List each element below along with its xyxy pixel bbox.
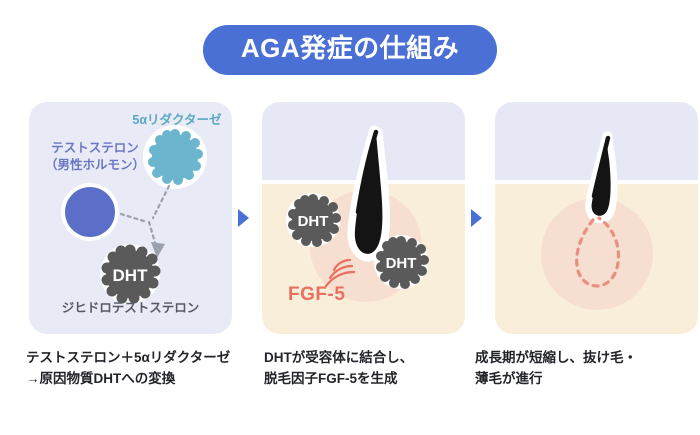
panel-binding: DHT DHT FGF-5 [262, 102, 465, 334]
caption-miniaturization: 成長期が短縮し、抜け毛・ 薄毛が進行 [475, 348, 675, 390]
captions-row: テストステロン＋5αリダクターゼ →原因物質DHTへの変換 DHTが受容体に結合… [0, 348, 700, 390]
panels-row: テストステロン （男性ホルモン） 5αリダクターゼ （酵素） [0, 102, 700, 334]
caption-conversion-line1: テストステロン＋5αリダクターゼ [26, 348, 258, 369]
title-bar: AGA発症の仕組み [0, 0, 700, 75]
arrow-2 [469, 102, 483, 334]
arrow-1 [236, 102, 250, 334]
dht-badge-left-text: DHT [298, 213, 329, 230]
panel-miniaturization-graphics [495, 102, 698, 334]
dht-molecule-left-icon: DHT [286, 193, 341, 247]
dht-full-name-label: ジヒドロテストステロン [29, 300, 232, 317]
dht-badge-right-text: DHT [386, 255, 417, 272]
page-title: AGA発症の仕組み [203, 25, 497, 75]
caption-binding-line1: DHTが受容体に結合し、 [264, 348, 459, 369]
fgf5-label: FGF-5 [288, 284, 345, 306]
dht-molecule-icon: DHT [100, 244, 161, 304]
panel-miniaturization [495, 102, 698, 334]
reductase-enzyme-icon [143, 125, 207, 189]
caption-conversion: テストステロン＋5αリダクターゼ →原因物質DHTへの変換 [26, 348, 258, 390]
caption-miniaturization-line1: 成長期が短縮し、抜け毛・ [475, 348, 675, 369]
dht-badge-text: DHT [113, 266, 149, 285]
triangle-right-icon [471, 209, 482, 227]
caption-conversion-line2: →原因物質DHTへの変換 [26, 369, 258, 390]
hair-follicle-icon [352, 130, 386, 257]
fgf5-signal-icon [326, 260, 354, 286]
panel-conversion: テストステロン （男性ホルモン） 5αリダクターゼ （酵素） [29, 102, 232, 334]
reaction-arrow-icon [121, 186, 169, 246]
shrunken-hair-follicle-icon [590, 136, 613, 219]
dht-molecule-right-icon: DHT [374, 235, 429, 289]
triangle-right-icon [238, 209, 249, 227]
caption-binding-line2: 脱毛因子FGF-5を生成 [264, 369, 459, 390]
caption-binding: DHTが受容体に結合し、 脱毛因子FGF-5を生成 [264, 348, 459, 390]
receded-follicle-outline-icon [577, 218, 619, 286]
caption-miniaturization-line2: 薄毛が進行 [475, 369, 675, 390]
